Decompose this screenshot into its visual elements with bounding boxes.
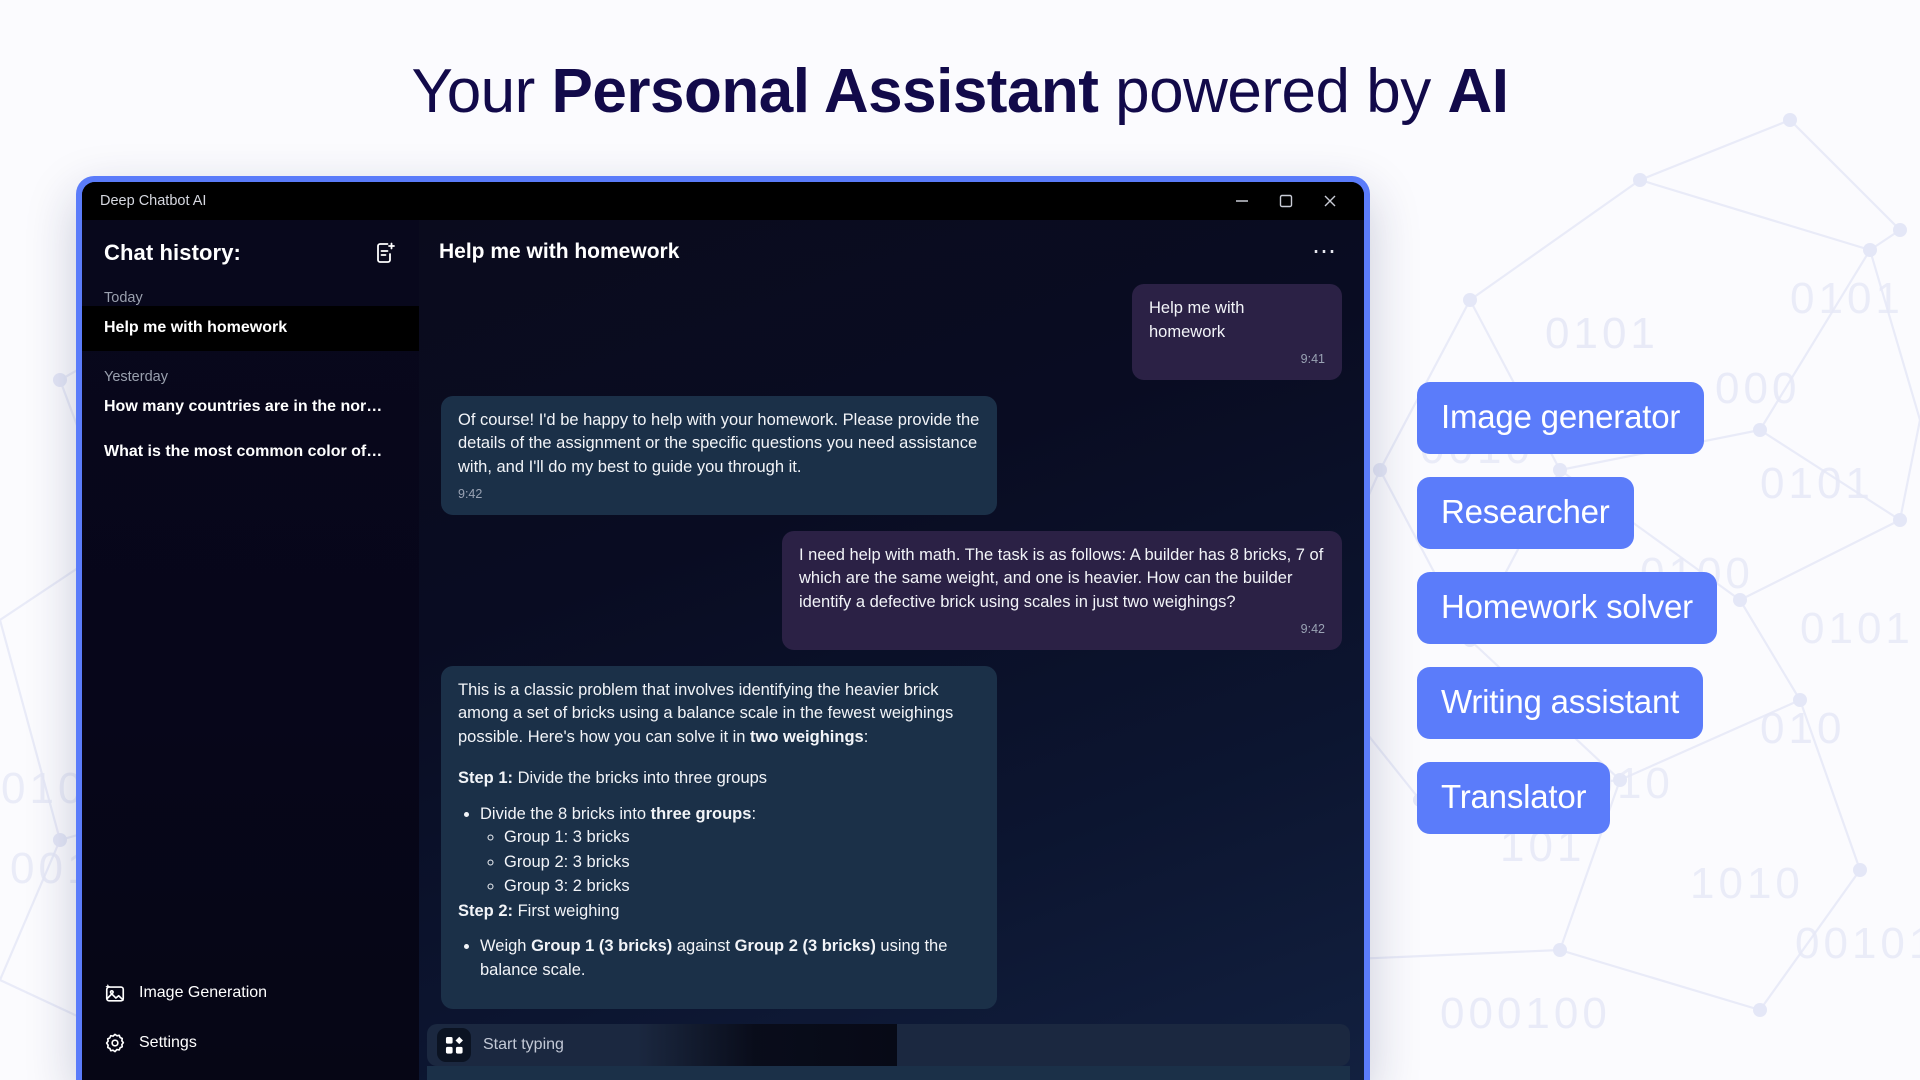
sidebar-item-image-generation[interactable]: Image Generation: [82, 968, 419, 1018]
list-item: Group 3: 2 bricks: [504, 875, 980, 899]
binary-digit-group: 010: [1760, 700, 1845, 758]
group-list: Group 1: 3 bricks Group 2: 3 bricks Grou…: [480, 826, 980, 899]
message-row: Of course! I'd be happy to help with you…: [441, 396, 1342, 515]
list-item: Divide the 8 bricks into three groups: G…: [480, 803, 980, 899]
message-row: Help me with homework 9:41: [441, 284, 1342, 380]
headline-bold-1: Personal Assistant: [552, 57, 1099, 126]
composer-bottom-strip: [427, 1066, 1350, 1080]
sidebar-bottom-label: Image Generation: [139, 984, 267, 1002]
bullet-text-a: Weigh: [480, 937, 531, 955]
sidebar-bottom-label: Settings: [139, 1034, 197, 1052]
sidebar-spacer: [82, 475, 419, 968]
sidebar: Chat history: Today Help me with homewor…: [82, 220, 419, 1080]
composer[interactable]: Start typing: [427, 1024, 1350, 1066]
gear-icon: [104, 1032, 126, 1054]
sidebar-item-how-many-countries[interactable]: How many countries are in the nor…: [82, 385, 419, 430]
feature-pill-list: Image generator Researcher Homework solv…: [1417, 382, 1717, 834]
binary-digit-group: 1010: [1690, 855, 1804, 913]
message-text: Help me with homework: [1149, 299, 1244, 341]
pill-homework-solver[interactable]: Homework solver: [1417, 572, 1717, 644]
binary-digit-group: 0101: [1545, 305, 1659, 363]
step-1-bullets: Divide the 8 bricks into three groups: G…: [458, 803, 980, 899]
step-2-text: First weighing: [513, 902, 619, 920]
pill-image-generator[interactable]: Image generator: [1417, 382, 1704, 454]
answer-step-1: Step 1: Divide the bricks into three gro…: [458, 767, 980, 791]
answer-step-2: Step 2: First weighing: [458, 900, 980, 924]
binary-digit-group: 0101: [1800, 600, 1914, 658]
headline-bold-2: AI: [1447, 57, 1508, 126]
message-text: I need help with math. The task is as fo…: [799, 546, 1323, 611]
pill-researcher[interactable]: Researcher: [1417, 477, 1634, 549]
binary-digit-group: 0101: [1760, 455, 1874, 513]
pill-translator[interactable]: Translator: [1417, 762, 1610, 834]
close-icon[interactable]: [1308, 186, 1352, 216]
message-row: This is a classic problem that involves …: [441, 666, 1342, 1010]
message-list: Help me with homework 9:41 Of course! I'…: [419, 274, 1364, 1024]
binary-digit-group: 00101: [1795, 915, 1920, 973]
more-options-icon[interactable]: ⋯: [1312, 246, 1338, 258]
sidebar-group-today: Today Help me with homework: [82, 272, 419, 351]
headline-part-1: Your: [412, 57, 552, 126]
bot-message-bubble-long: This is a classic problem that involves …: [441, 666, 997, 1010]
binary-digit-group: 0101: [1790, 270, 1904, 328]
page-root: 0101010100000100101010001011010010001010…: [0, 0, 1920, 1080]
answer-intro: This is a classic problem that involves …: [458, 679, 980, 750]
new-chat-icon[interactable]: [373, 241, 397, 265]
headline-part-2: powered by: [1098, 57, 1447, 126]
bullet-text-b: :: [751, 805, 756, 823]
composer-placeholder: Start typing: [483, 1036, 564, 1054]
chat-header: Help me with homework ⋯: [419, 220, 1364, 274]
user-message-bubble: Help me with homework 9:41: [1132, 284, 1342, 380]
message-timestamp: 9:42: [458, 483, 980, 507]
window-inner: Deep Chatbot AI Chat history:: [82, 182, 1364, 1080]
bullet-text-a: Divide the 8 bricks into: [480, 805, 651, 823]
sidebar-group-yesterday: Yesterday How many countries are in the …: [82, 351, 419, 475]
answer-intro-a: This is a classic problem that involves …: [458, 681, 953, 746]
bot-message-bubble: Of course! I'd be happy to help with you…: [441, 396, 997, 515]
image-sparkle-icon: [104, 982, 126, 1004]
sidebar-group-label: Yesterday: [82, 351, 419, 385]
list-item: Group 1: 3 bricks: [504, 826, 980, 850]
window-body: Chat history: Today Help me with homewor…: [82, 220, 1364, 1080]
chat-panel: Help me with homework ⋯ Help me with hom…: [419, 220, 1364, 1080]
message-timestamp: 9:41: [1149, 348, 1325, 372]
step-1-label: Step 1:: [458, 769, 513, 787]
sidebar-item-help-me-with-homework[interactable]: Help me with homework: [82, 306, 419, 351]
answer-intro-b: :: [864, 728, 869, 746]
window-title: Deep Chatbot AI: [100, 193, 1220, 209]
bullet-text-bold-1: Group 1 (3 bricks): [531, 937, 672, 955]
page-title: Your Personal Assistant powered by AI: [0, 52, 1920, 132]
step-2-bullets: Weigh Group 1 (3 bricks) against Group 2…: [458, 935, 980, 982]
step-1-text: Divide the bricks into three groups: [513, 769, 767, 787]
maximize-icon[interactable]: [1264, 186, 1308, 216]
composer-wrap: Start typing: [419, 1024, 1364, 1080]
list-item: Weigh Group 1 (3 bricks) against Group 2…: [480, 935, 980, 982]
app-window: Deep Chatbot AI Chat history:: [76, 176, 1370, 1080]
bullet-text-bold-2: Group 2 (3 bricks): [735, 937, 876, 955]
sidebar-header: Chat history:: [82, 220, 419, 272]
bullet-text-b: against: [672, 937, 734, 955]
sidebar-title: Chat history:: [104, 240, 373, 266]
binary-digit-group: 000100: [1440, 985, 1611, 1043]
chat-title: Help me with homework: [439, 240, 1312, 264]
apps-grid-icon[interactable]: [437, 1028, 471, 1062]
list-item: Group 2: 3 bricks: [504, 851, 980, 875]
step-2-label: Step 2:: [458, 902, 513, 920]
sidebar-item-most-common-color[interactable]: What is the most common color of…: [82, 430, 419, 475]
message-timestamp: 9:42: [799, 618, 1325, 642]
minimize-icon[interactable]: [1220, 186, 1264, 216]
bullet-text-bold: three groups: [651, 805, 752, 823]
user-message-bubble: I need help with math. The task is as fo…: [782, 531, 1342, 650]
sidebar-group-label: Today: [82, 272, 419, 306]
binary-digit-group: 000: [1715, 360, 1800, 418]
pill-writing-assistant[interactable]: Writing assistant: [1417, 667, 1703, 739]
window-titlebar: Deep Chatbot AI: [82, 182, 1364, 220]
answer-intro-bold: two weighings: [750, 728, 864, 746]
message-row: I need help with math. The task is as fo…: [441, 531, 1342, 650]
sidebar-item-settings[interactable]: Settings: [82, 1018, 419, 1080]
message-text: Of course! I'd be happy to help with you…: [458, 411, 979, 476]
